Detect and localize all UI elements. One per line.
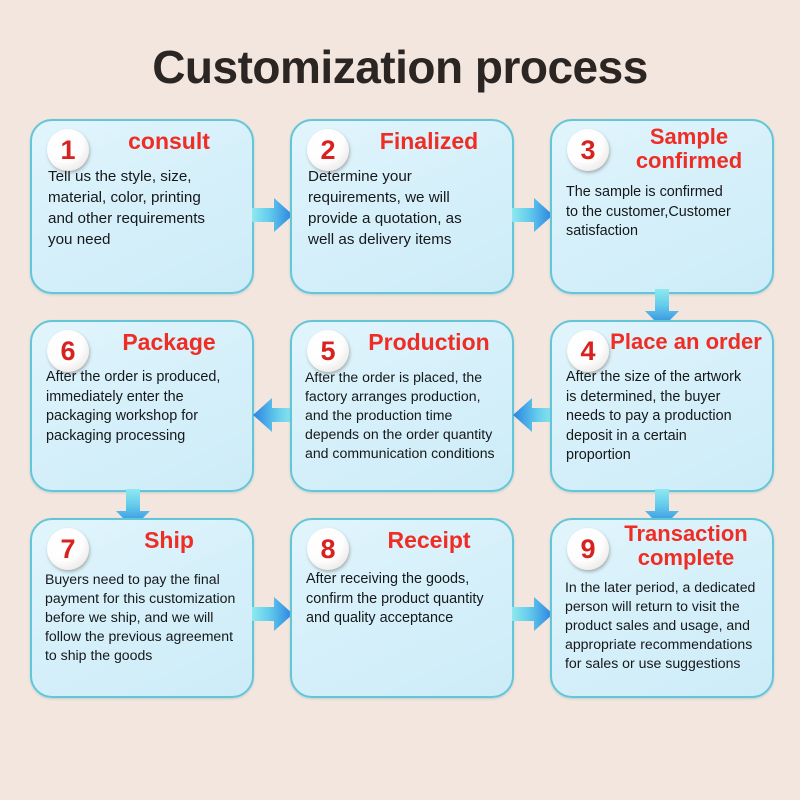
step-box-9[interactable]: 9 Transaction complete In the later peri… xyxy=(550,518,774,698)
arrow-step7-to-step8 xyxy=(252,595,294,633)
step-8-header: 8 Receipt xyxy=(292,520,512,566)
step-box-8[interactable]: 8 Receipt After receiving the goods, con… xyxy=(290,518,514,698)
step-4-header: 4 Place an order xyxy=(552,322,772,368)
arrow-step8-to-step9 xyxy=(512,595,554,633)
step-2-title: Finalized xyxy=(354,129,504,154)
step-7-title: Ship xyxy=(94,528,244,553)
step-2-body: Determine your requirements, we will pro… xyxy=(292,167,512,251)
arrow-step5-to-step6 xyxy=(252,396,294,434)
step-box-4[interactable]: 4 Place an order After the size of the a… xyxy=(550,320,774,492)
step-8-number-badge: 8 xyxy=(307,528,349,570)
step-4-number-badge: 4 xyxy=(567,330,609,372)
arrow-step1-to-step2 xyxy=(252,196,294,234)
step-4-title: Place an order xyxy=(608,330,764,354)
step-7-body: Buyers need to pay the final payment for… xyxy=(32,566,252,664)
flowchart-canvas: Customization process 1 consult xyxy=(0,0,800,800)
step-9-title: Transaction complete xyxy=(608,522,764,570)
step-3-title: Sample confirmed xyxy=(614,125,764,173)
step-5-header: 5 Production xyxy=(292,322,512,368)
step-1-number-badge: 1 xyxy=(47,129,89,171)
arrow-step4-to-step5 xyxy=(512,396,554,434)
step-3-body: The sample is confirmed to the customer,… xyxy=(552,183,772,242)
step-4-body: After the size of the artwork is determi… xyxy=(552,368,772,466)
step-1-header: 1 consult xyxy=(32,121,252,167)
step-5-body: After the order is placed, the factory a… xyxy=(292,368,512,462)
step-8-body: After receiving the goods, confirm the p… xyxy=(292,566,512,629)
step-6-body: After the order is produced, immediately… xyxy=(32,368,252,446)
step-box-2[interactable]: 2 Finalized Determine your requirements,… xyxy=(290,119,514,294)
step-box-5[interactable]: 5 Production After the order is placed, … xyxy=(290,320,514,492)
step-5-number-badge: 5 xyxy=(307,330,349,372)
step-box-3[interactable]: 3 Sample confirmed The sample is confirm… xyxy=(550,119,774,294)
step-9-header: 9 Transaction complete xyxy=(552,520,772,578)
step-box-7[interactable]: 7 Ship Buyers need to pay the final paym… xyxy=(30,518,254,698)
arrow-step2-to-step3 xyxy=(512,196,554,234)
step-9-number-badge: 9 xyxy=(567,528,609,570)
page-title: Customization process xyxy=(0,44,800,90)
step-3-header: 3 Sample confirmed xyxy=(552,121,772,183)
step-7-number-badge: 7 xyxy=(47,528,89,570)
step-box-1[interactable]: 1 consult Tell us the style, size, mater… xyxy=(30,119,254,294)
step-2-header: 2 Finalized xyxy=(292,121,512,167)
step-3-number-badge: 3 xyxy=(567,129,609,171)
step-6-title: Package xyxy=(94,330,244,355)
step-2-number-badge: 2 xyxy=(307,129,349,171)
step-box-6[interactable]: 6 Package After the order is produced, i… xyxy=(30,320,254,492)
step-8-title: Receipt xyxy=(354,528,504,553)
step-9-body: In the later period, a dedicated person … xyxy=(552,578,772,672)
step-6-header: 6 Package xyxy=(32,322,252,368)
step-6-number-badge: 6 xyxy=(47,330,89,372)
step-1-body: Tell us the style, size, material, color… xyxy=(32,167,252,251)
step-7-header: 7 Ship xyxy=(32,520,252,566)
step-1-title: consult xyxy=(94,129,244,154)
step-5-title: Production xyxy=(354,330,504,355)
